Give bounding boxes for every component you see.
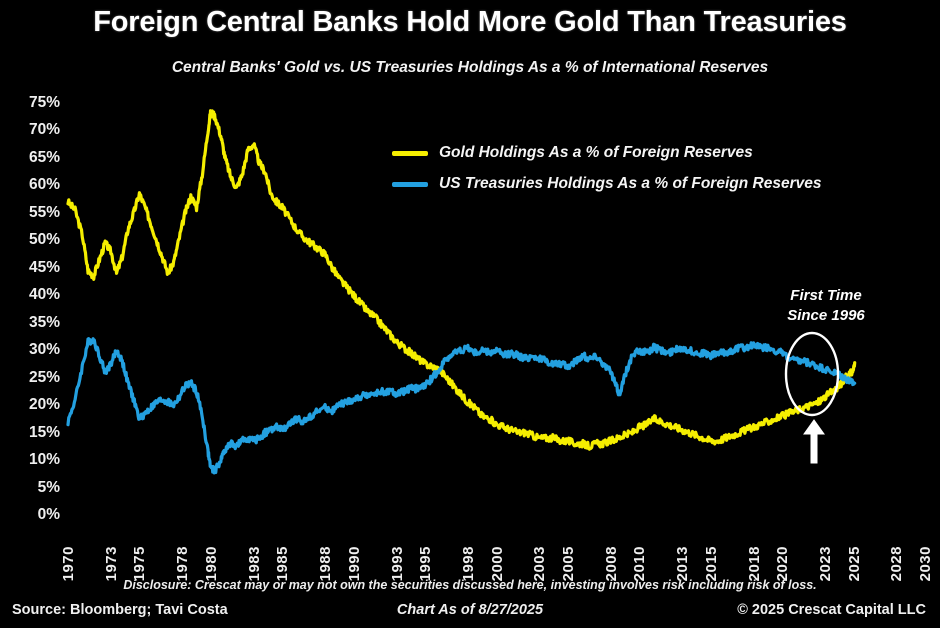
legend-swatch-treasuries [392, 182, 428, 187]
x-tick-2023: 2023 [817, 546, 834, 581]
x-tick-2018: 2018 [746, 546, 763, 581]
chart-root: Foreign Central Banks Hold More Gold Tha… [0, 0, 940, 628]
annotation-line-2: Since 1996 [766, 306, 886, 326]
y-tick-50: 50% [0, 231, 60, 249]
x-tick-1985: 1985 [274, 546, 291, 581]
x-tick-2000: 2000 [489, 546, 506, 581]
x-tick-2010: 2010 [631, 546, 648, 581]
y-tick-15: 15% [0, 424, 60, 442]
y-tick-70: 70% [0, 121, 60, 139]
legend-item-gold: Gold Holdings As a % of Foreign Reserves [392, 144, 821, 162]
x-tick-1993: 1993 [389, 546, 406, 581]
y-tick-45: 45% [0, 259, 60, 277]
annotation-line-1: First Time [766, 286, 886, 306]
annotation-marks [780, 330, 890, 470]
x-tick-2008: 2008 [603, 546, 620, 581]
x-tick-2015: 2015 [703, 546, 720, 581]
y-tick-25: 25% [0, 369, 60, 387]
x-tick-2030: 2030 [917, 546, 934, 581]
copyright-text: © 2025 Crescat Capital LLC [737, 602, 926, 618]
y-tick-30: 30% [0, 341, 60, 359]
x-axis-labels: 1970197319751978198019831985198819901993… [68, 519, 925, 581]
annotation-text: First Time Since 1996 [766, 286, 886, 327]
legend-label-gold: Gold Holdings As a % of Foreign Reserves [439, 144, 753, 162]
legend-swatch-gold [392, 151, 428, 156]
x-tick-1980: 1980 [203, 546, 220, 581]
y-axis-labels: 75%70%65%60%55%50%45%40%35%30%25%20%15%1… [0, 103, 60, 515]
legend-label-treasuries: US Treasuries Holdings As a % of Foreign… [439, 175, 821, 193]
crossover-arrow [804, 420, 824, 463]
y-tick-55: 55% [0, 204, 60, 222]
x-tick-1970: 1970 [60, 546, 77, 581]
x-tick-1995: 1995 [417, 546, 434, 581]
legend-item-treasuries: US Treasuries Holdings As a % of Foreign… [392, 175, 821, 193]
y-tick-40: 40% [0, 286, 60, 304]
y-tick-60: 60% [0, 176, 60, 194]
y-tick-65: 65% [0, 149, 60, 167]
x-tick-2020: 2020 [774, 546, 791, 581]
disclosure-text: Disclosure: Crescat may or may not own t… [0, 578, 940, 592]
x-tick-1990: 1990 [346, 546, 363, 581]
y-tick-20: 20% [0, 396, 60, 414]
x-tick-1983: 1983 [246, 546, 263, 581]
series-line-treasuries [68, 339, 855, 473]
x-tick-1975: 1975 [131, 546, 148, 581]
x-tick-2013: 2013 [674, 546, 691, 581]
page-title: Foreign Central Banks Hold More Gold Tha… [0, 6, 940, 39]
x-tick-1978: 1978 [174, 546, 191, 581]
legend: Gold Holdings As a % of Foreign Reserves… [392, 144, 821, 206]
crossover-highlight-ellipse [786, 333, 838, 415]
x-tick-2028: 2028 [888, 546, 905, 581]
x-tick-1973: 1973 [103, 546, 120, 581]
y-tick-35: 35% [0, 314, 60, 332]
x-tick-1998: 1998 [460, 546, 477, 581]
x-tick-2003: 2003 [531, 546, 548, 581]
y-tick-0: 0% [0, 506, 60, 524]
y-tick-75: 75% [0, 94, 60, 112]
page-subtitle: Central Banks' Gold vs. US Treasuries Ho… [0, 59, 940, 77]
y-tick-5: 5% [0, 479, 60, 497]
x-tick-2025: 2025 [846, 546, 863, 581]
x-tick-1988: 1988 [317, 546, 334, 581]
y-tick-10: 10% [0, 451, 60, 469]
x-tick-2005: 2005 [560, 546, 577, 581]
